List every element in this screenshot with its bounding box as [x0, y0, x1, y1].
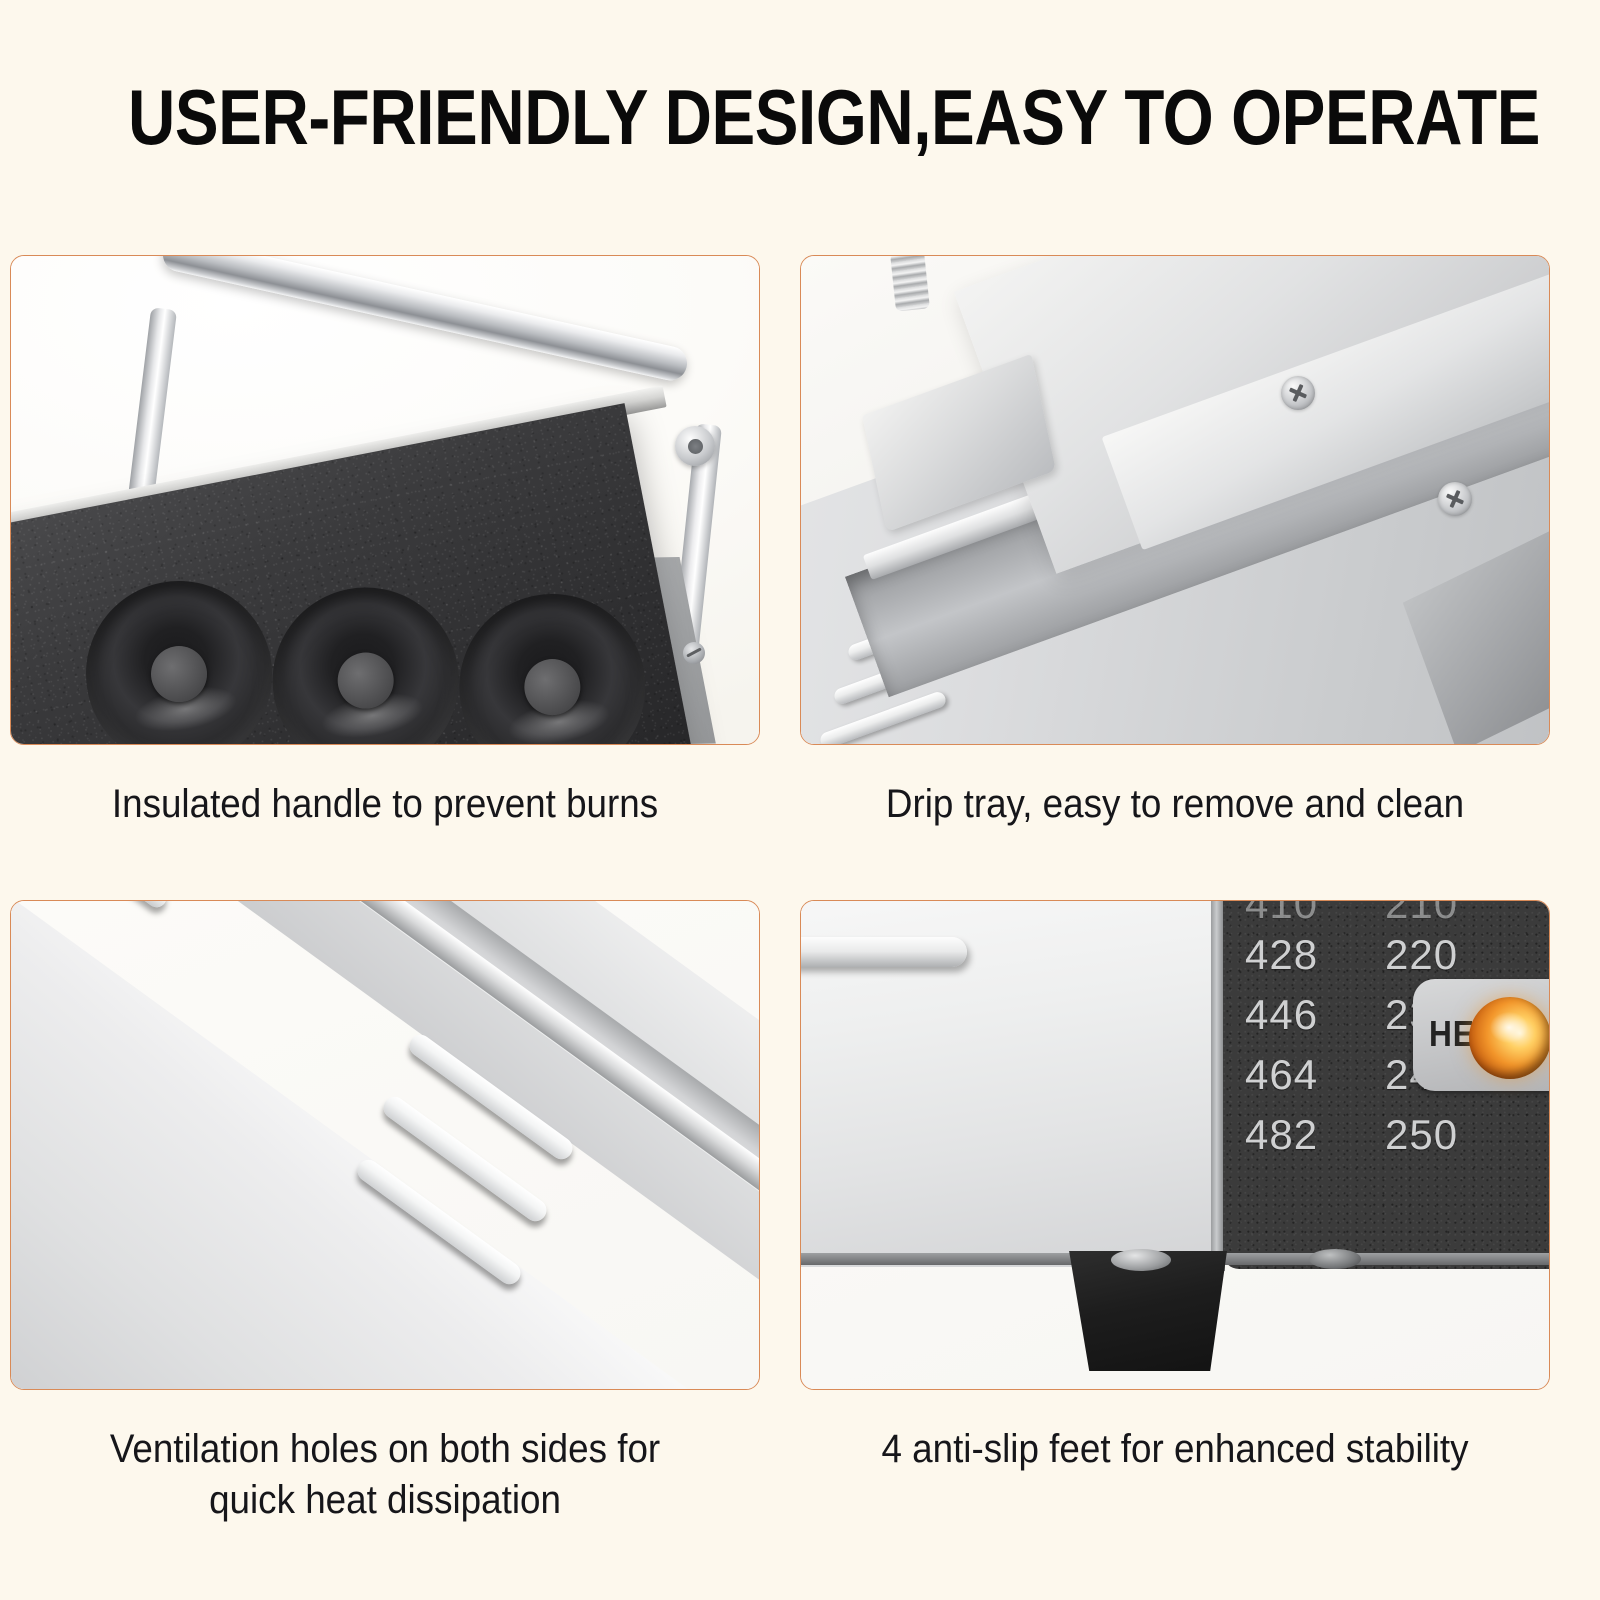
donut-cavity [443, 578, 661, 745]
feature-card-insulated-handle: Insulated handle to prevent burns [10, 255, 760, 830]
feature-caption: Ventilation holes on both sides for quic… [40, 1424, 730, 1526]
vent-slot [800, 937, 967, 967]
temperature-row: 482 250 [1245, 1105, 1481, 1165]
temp-fahrenheit: 410 [1245, 900, 1341, 928]
photo-drip-tray [800, 255, 1550, 745]
donut-cavity [70, 565, 288, 745]
spring-coil-icon [890, 255, 930, 312]
temp-fahrenheit: 428 [1245, 931, 1341, 979]
feature-caption: 4 anti-slip feet for enhanced stability [830, 1424, 1520, 1475]
temp-fahrenheit: 464 [1245, 1051, 1341, 1099]
caption-line: Ventilation holes on both sides for [40, 1424, 730, 1475]
feature-caption: Drip tray, easy to remove and clean [830, 779, 1520, 830]
temp-celsius: 250 [1385, 1111, 1481, 1159]
feature-card-anti-slip-feet: 410 210 428 220 446 230 464 [800, 900, 1550, 1475]
infographic-page: USER-FRIENDLY DESIGN,EASY TO OPERATE [0, 0, 1600, 1600]
feature-caption: Insulated handle to prevent burns [40, 779, 730, 830]
page-title: USER-FRIENDLY DESIGN,EASY TO OPERATE [128, 78, 1472, 156]
feature-card-ventilation: Ventilation holes on both sides for quic… [10, 900, 760, 1526]
caption-line: quick heat dissipation [40, 1475, 730, 1526]
handle-pivot-icon [675, 426, 715, 466]
temp-celsius: 220 [1385, 931, 1481, 979]
foot-screw-icon [1309, 1249, 1361, 1269]
handle-screw-icon [683, 642, 705, 664]
phillips-screw-icon [1281, 376, 1315, 410]
feature-card-drip-tray: Drip tray, easy to remove and clean [800, 255, 1550, 830]
phillips-screw-icon [1438, 482, 1472, 516]
donut-cavity [257, 572, 475, 745]
heat-indicator-lamp [1469, 997, 1550, 1079]
temp-fahrenheit: 482 [1245, 1111, 1341, 1159]
temp-celsius: 210 [1385, 900, 1481, 928]
photo-insulated-handle [10, 255, 760, 745]
feature-grid: Insulated handle to prevent burns Drip [10, 255, 1590, 1545]
photo-anti-slip-feet: 410 210 428 220 446 230 464 [800, 900, 1550, 1390]
temperature-row: 428 220 [1245, 925, 1481, 985]
temperature-row: 410 210 [1245, 900, 1481, 925]
temp-fahrenheit: 446 [1245, 991, 1341, 1039]
control-panel: 410 210 428 220 446 230 464 [1223, 900, 1550, 1269]
foot-screw-icon [1111, 1249, 1171, 1271]
photo-ventilation [10, 900, 760, 1390]
